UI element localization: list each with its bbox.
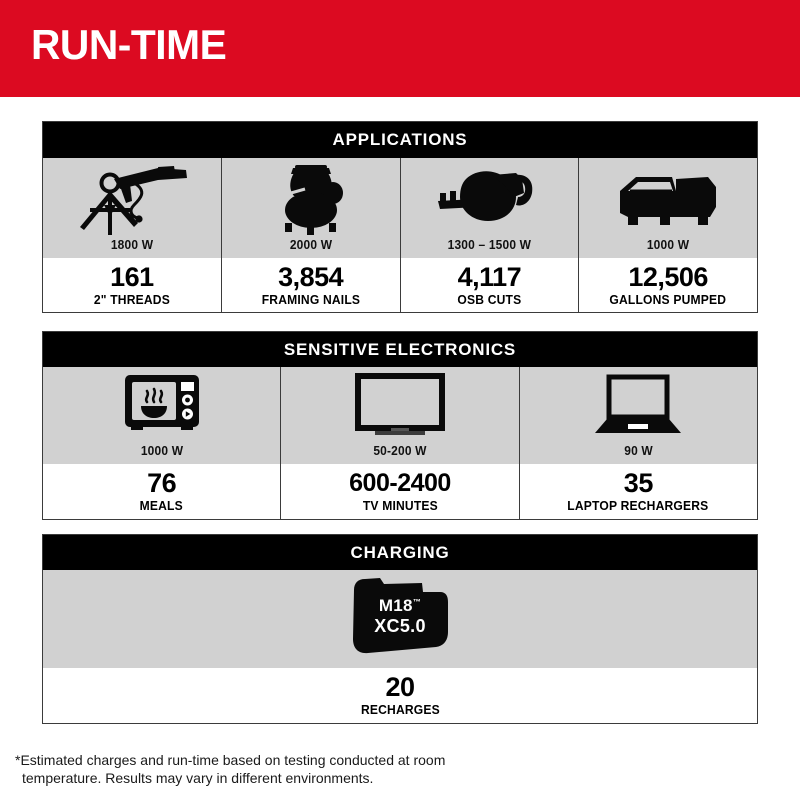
stat-cell-threads-caption: 2" THREADS bbox=[94, 292, 170, 308]
battery-model-line1: M18™ bbox=[344, 596, 456, 616]
stat-cell-gallons-pumped-top: 1000 W bbox=[579, 158, 757, 258]
circular-saw-icon bbox=[401, 158, 579, 237]
stat-cell-gallons-pumped: 1000 W 12,506 GALLONS PUMPED bbox=[579, 158, 757, 312]
stat-cell-laptop-rechargers-bottom: 35 LAPTOP RECHARGERS bbox=[520, 464, 757, 519]
stat-cell-recharges-top: M18™ XC5.0 bbox=[43, 570, 757, 668]
panel-sensitive-electronics: SENSITIVE ELECTRONICS bbox=[42, 331, 758, 520]
stat-cell-framing-nails: 2000 W 3,854 FRAMING NAILS bbox=[222, 158, 401, 312]
stat-cell-meals-caption: MEALS bbox=[140, 498, 183, 514]
stat-cell-meals-watts: 1000 W bbox=[140, 443, 182, 460]
stat-cell-threads-value: 161 bbox=[110, 263, 154, 292]
stat-cell-laptop-rechargers-value: 35 bbox=[624, 469, 653, 498]
panel-applications-body: 1800 W 161 2" THREADS bbox=[43, 158, 757, 312]
stat-cell-framing-nails-top: 2000 W bbox=[222, 158, 400, 258]
stat-cell-osb-cuts-watts: 1300 – 1500 W bbox=[448, 237, 532, 254]
stat-cell-osb-cuts-bottom: 4,117 OSB CUTS bbox=[401, 258, 579, 312]
pipe-threader-icon bbox=[43, 158, 221, 237]
stat-cell-framing-nails-bottom: 3,854 FRAMING NAILS bbox=[222, 258, 400, 312]
panel-charging-title: CHARGING bbox=[43, 535, 757, 570]
stat-cell-recharges-caption: RECHARGES bbox=[361, 702, 440, 718]
runtime-infographic: RUN-TIME APPLICATIONS bbox=[0, 0, 800, 800]
laptop-icon bbox=[520, 367, 757, 443]
m18-battery-icon: M18™ XC5.0 bbox=[43, 570, 757, 662]
panel-sensitive-electronics-body: 1000 W 76 MEALS bbox=[43, 367, 757, 519]
stat-cell-recharges: M18™ XC5.0 20 RECHARGES bbox=[43, 570, 757, 723]
stat-cell-threads: 1800 W 161 2" THREADS bbox=[43, 158, 222, 312]
stat-cell-osb-cuts: 1300 – 1500 W 4,117 OSB CUTS bbox=[401, 158, 580, 312]
stat-cell-osb-cuts-value: 4,117 bbox=[458, 263, 522, 292]
stat-cell-tv-minutes: 50-200 W 600-2400 TV MINUTES bbox=[281, 367, 519, 519]
television-icon bbox=[281, 367, 518, 443]
stat-cell-tv-minutes-top: 50-200 W bbox=[281, 367, 518, 464]
stat-cell-threads-top: 1800 W bbox=[43, 158, 221, 258]
footnote-line-1: *Estimated charges and run-time based on… bbox=[15, 752, 445, 768]
water-pump-icon bbox=[579, 158, 757, 237]
header-banner: RUN-TIME bbox=[0, 0, 800, 97]
stat-cell-threads-bottom: 161 2" THREADS bbox=[43, 258, 221, 312]
stat-cell-gallons-pumped-bottom: 12,506 GALLONS PUMPED bbox=[579, 258, 757, 312]
stat-cell-meals-bottom: 76 MEALS bbox=[43, 464, 280, 519]
footnote-line-2: temperature. Results may vary in differe… bbox=[15, 769, 575, 787]
stat-cell-gallons-pumped-value: 12,506 bbox=[628, 263, 708, 292]
stat-cell-framing-nails-caption: FRAMING NAILS bbox=[261, 292, 359, 308]
trademark-symbol: ™ bbox=[413, 597, 421, 606]
panel-applications: APPLICATIONS bbox=[42, 121, 758, 313]
panel-charging: CHARGING M18™ XC5.0 bbox=[42, 534, 758, 724]
panel-applications-title: APPLICATIONS bbox=[43, 122, 757, 158]
microwave-icon bbox=[43, 367, 280, 443]
stat-cell-threads-watts: 1800 W bbox=[111, 237, 153, 254]
battery-model-line2: XC5.0 bbox=[344, 616, 456, 637]
stat-cell-framing-nails-watts: 2000 W bbox=[289, 237, 331, 254]
stat-cell-meals: 1000 W 76 MEALS bbox=[43, 367, 281, 519]
panel-charging-body: M18™ XC5.0 20 RECHARGES bbox=[43, 570, 757, 723]
stat-cell-laptop-rechargers-caption: LAPTOP RECHARGERS bbox=[568, 498, 709, 514]
stat-cell-laptop-rechargers-top: 90 W bbox=[520, 367, 757, 464]
stat-cell-gallons-pumped-caption: GALLONS PUMPED bbox=[610, 292, 727, 308]
stat-cell-meals-top: 1000 W bbox=[43, 367, 280, 464]
page-title: RUN-TIME bbox=[31, 21, 226, 69]
footnote: *Estimated charges and run-time based on… bbox=[15, 751, 575, 787]
stat-cell-framing-nails-value: 3,854 bbox=[278, 263, 343, 292]
stat-cell-tv-minutes-bottom: 600-2400 TV MINUTES bbox=[281, 464, 518, 519]
air-compressor-icon bbox=[222, 158, 400, 237]
stat-cell-meals-value: 76 bbox=[147, 469, 176, 498]
stat-cell-tv-minutes-caption: TV MINUTES bbox=[362, 498, 437, 514]
panel-sensitive-electronics-title: SENSITIVE ELECTRONICS bbox=[43, 332, 757, 367]
stat-cell-recharges-value: 20 bbox=[385, 673, 414, 702]
stat-cell-osb-cuts-top: 1300 – 1500 W bbox=[401, 158, 579, 258]
stat-cell-recharges-bottom: 20 RECHARGES bbox=[43, 668, 757, 723]
stat-cell-gallons-pumped-watts: 1000 W bbox=[647, 237, 689, 254]
stat-cell-laptop-rechargers: 90 W 35 LAPTOP RECHARGERS bbox=[520, 367, 757, 519]
stat-cell-tv-minutes-watts: 50-200 W bbox=[373, 443, 426, 460]
stat-cell-osb-cuts-caption: OSB CUTS bbox=[457, 292, 521, 308]
stat-cell-laptop-rechargers-watts: 90 W bbox=[624, 443, 653, 460]
stat-cell-tv-minutes-value: 600-2400 bbox=[349, 469, 451, 498]
